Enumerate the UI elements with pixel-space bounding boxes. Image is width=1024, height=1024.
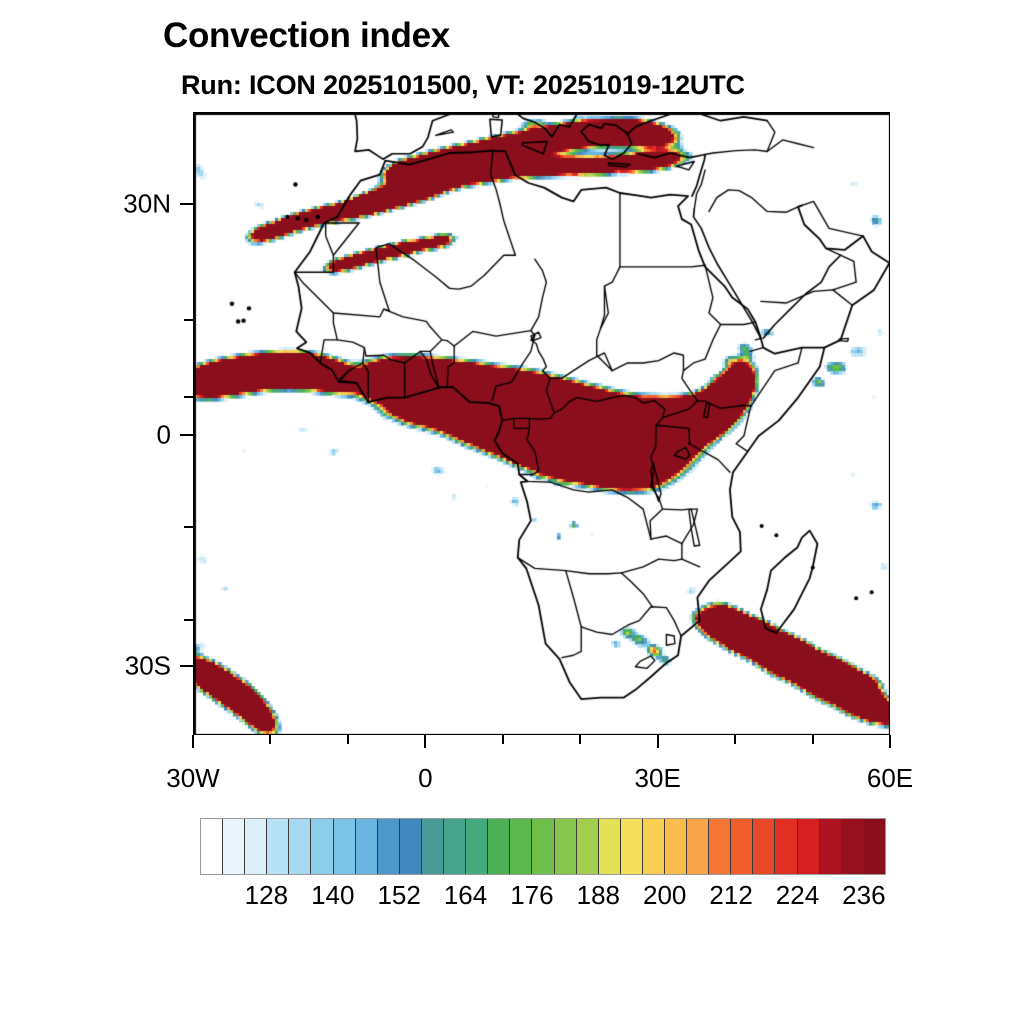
y-tick-mark	[184, 319, 193, 321]
y-axis-label-30N: 30N	[0, 189, 171, 220]
x-tick-mark	[657, 735, 659, 748]
colorbar-cell	[267, 819, 289, 874]
colorbar-tick-labels: 128140152164176188200212224236	[0, 880, 1024, 920]
x-tick-mark	[734, 735, 736, 744]
colorbar-cell	[577, 819, 599, 874]
x-axis-label-0: 0	[418, 763, 432, 794]
figure-subtitle: Run: ICON 2025101500, VT: 20251019-12UTC	[181, 70, 745, 101]
colorbar-tick-176: 176	[510, 880, 553, 911]
x-tick-mark	[889, 735, 891, 748]
x-axis-label-60E: 60E	[867, 763, 913, 794]
colorbar-tick-164: 164	[444, 880, 487, 911]
colorbar-cell	[842, 819, 864, 874]
colorbar-cell	[798, 819, 820, 874]
colorbar-cell	[245, 819, 267, 874]
colorbar-cell	[400, 819, 422, 874]
y-axis-label-30S: 30S	[0, 650, 171, 681]
colorbar-tick-140: 140	[311, 880, 354, 911]
colorbar-cell	[643, 819, 665, 874]
colorbar-cell	[356, 819, 378, 874]
x-axis-label-30E: 30E	[635, 763, 681, 794]
colorbar-tick-188: 188	[577, 880, 620, 911]
convection-index-heatmap	[194, 113, 890, 735]
x-tick-mark	[269, 735, 271, 744]
colorbar-cell	[532, 819, 554, 874]
colorbar-cell	[289, 819, 311, 874]
x-tick-mark	[502, 735, 504, 744]
colorbar-cell	[775, 819, 797, 874]
y-tick-mark	[184, 526, 193, 528]
y-tick-mark	[184, 619, 193, 621]
colorbar-cell	[422, 819, 444, 874]
colorbar-cell	[444, 819, 466, 874]
x-tick-mark	[424, 735, 426, 748]
colorbar-cell	[510, 819, 532, 874]
colorbar-cell	[687, 819, 709, 874]
colorbar-cell	[621, 819, 643, 874]
x-axis-label-30W: 30W	[166, 763, 219, 794]
y-axis-label-0: 0	[0, 420, 171, 451]
y-tick-mark	[180, 665, 193, 667]
x-tick-mark	[192, 735, 194, 748]
colorbar-cell	[820, 819, 842, 874]
colorbar-tick-152: 152	[377, 880, 420, 911]
colorbar-cell	[864, 819, 885, 874]
colorbar-cell	[466, 819, 488, 874]
colorbar-tick-224: 224	[776, 880, 819, 911]
y-tick-mark	[184, 396, 193, 398]
colorbar-cell	[488, 819, 510, 874]
colorbar-cell	[334, 819, 356, 874]
colorbar-tick-200: 200	[643, 880, 686, 911]
colorbar-cell	[555, 819, 577, 874]
colorbar-cell	[378, 819, 400, 874]
colorbar-tick-212: 212	[709, 880, 752, 911]
y-tick-mark	[180, 203, 193, 205]
convection-index-figure: Convection index Run: ICON 2025101500, V…	[0, 0, 1024, 1024]
x-tick-mark	[812, 735, 814, 744]
colorbar-gradient	[200, 818, 886, 875]
colorbar-cell	[201, 819, 223, 874]
colorbar-tick-128: 128	[245, 880, 288, 911]
colorbar-cell	[311, 819, 333, 874]
colorbar-cell	[731, 819, 753, 874]
y-tick-mark	[180, 434, 193, 436]
colorbar-cell	[665, 819, 687, 874]
colorbar	[200, 818, 886, 875]
map-plot-area	[193, 112, 890, 735]
x-tick-mark	[579, 735, 581, 744]
page-title: Convection index	[163, 16, 450, 56]
colorbar-tick-236: 236	[842, 880, 885, 911]
x-tick-mark	[347, 735, 349, 744]
colorbar-cell	[753, 819, 775, 874]
colorbar-cell	[223, 819, 245, 874]
colorbar-cell	[599, 819, 621, 874]
colorbar-cell	[709, 819, 731, 874]
